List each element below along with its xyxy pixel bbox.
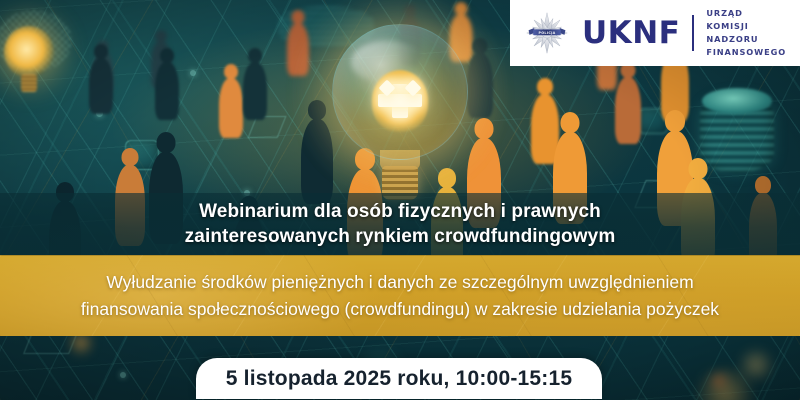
uknf-logo-panel: POLICJA UKNF URZĄD KOMISJI NADZORU FINAN… <box>510 0 800 66</box>
event-title-band: Webinarium dla osób fizycznych i prawnyc… <box>0 193 800 255</box>
small-bulb-glass <box>4 26 54 78</box>
bulb-filament <box>378 94 422 107</box>
event-title-line-2: zainteresowanych rynkiem crowdfundingowy… <box>185 224 616 249</box>
logo-divider <box>692 15 694 51</box>
svg-text:POLICJA: POLICJA <box>538 31 555 35</box>
uknf-subtitle: URZĄD KOMISJI NADZORU FINANSOWEGO <box>706 7 786 59</box>
uknf-wordmark: UKNF <box>582 18 680 49</box>
event-subject-band: Wyłudzanie środków pieniężnych i danych … <box>0 255 800 336</box>
policja-star-badge-icon: POLICJA <box>524 10 570 56</box>
event-subject-line-2: finansowania społecznościowego (crowdfun… <box>81 296 719 322</box>
uknf-subtitle-line-3: NADZORU <box>706 33 786 46</box>
uknf-subtitle-line-1: URZĄD <box>706 7 786 20</box>
uknf-subtitle-line-2: KOMISJI <box>706 20 786 33</box>
light-bulb-icon <box>332 24 468 200</box>
webinar-banner: POLICJA UKNF URZĄD KOMISJI NADZORU FINAN… <box>0 0 800 400</box>
event-title-line-1: Webinarium dla osób fizycznych i prawnyc… <box>199 199 601 224</box>
uknf-subtitle-line-4: FINANSOWEGO <box>706 46 786 59</box>
event-subject-line-1: Wyłudzanie środków pieniężnych i danych … <box>106 269 693 295</box>
event-date-text: 5 listopada 2025 roku, 10:00-15:15 <box>226 367 572 391</box>
event-date-pill: 5 listopada 2025 roku, 10:00-15:15 <box>196 358 602 399</box>
small-bulb-screw <box>21 74 37 92</box>
small-light-bulb-icon <box>4 26 54 98</box>
